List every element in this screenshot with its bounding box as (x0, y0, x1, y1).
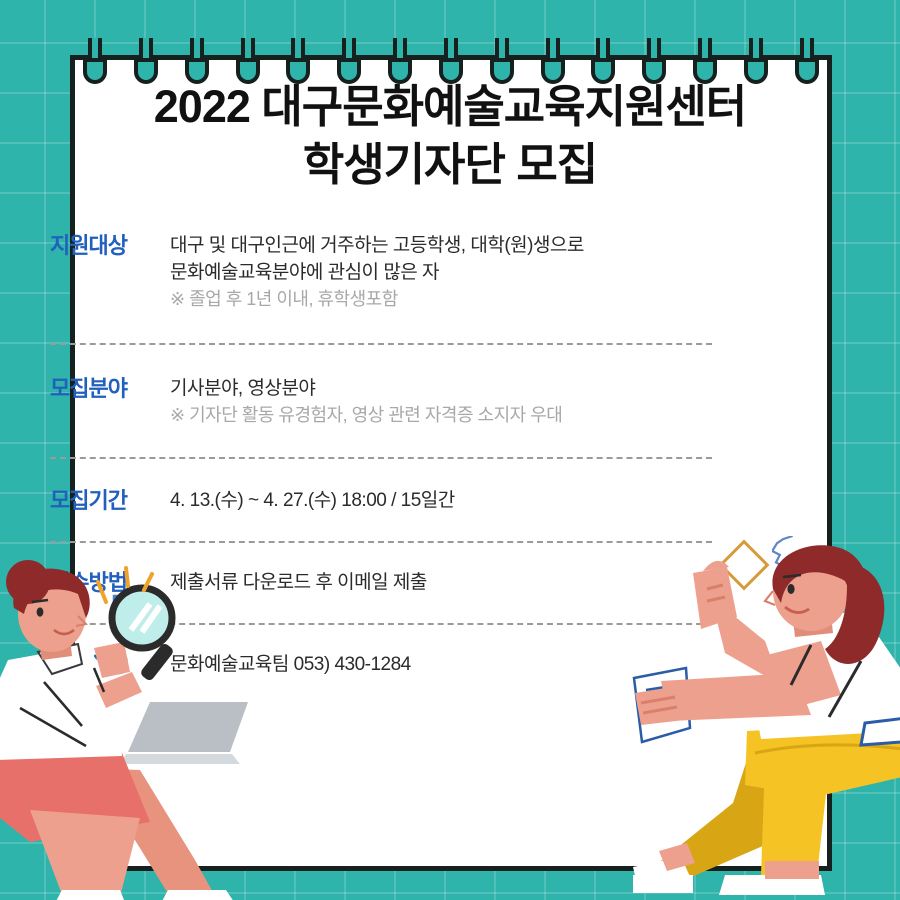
spiral-ring (186, 38, 208, 86)
spiral-ring-bulb (388, 58, 412, 84)
row-spacer (0, 345, 762, 375)
info-row-label: 모집기간 (50, 487, 158, 515)
spiral-ring-bulb (490, 58, 514, 84)
spiral-ring (491, 38, 513, 86)
row-spacer (0, 515, 762, 541)
spiral-ring-bulb (134, 58, 158, 84)
info-row-note: ※ 기자단 활동 유경험자, 영상 관련 자격증 소지자 우대 (170, 402, 762, 429)
row-spacer (0, 429, 762, 457)
info-row-note: ※ 졸업 후 1년 이내, 휴학생포함 (170, 286, 762, 313)
spiral-ring (745, 38, 767, 86)
spiral-ring (643, 38, 665, 86)
spiral-ring-bulb (185, 58, 209, 84)
spiral-ring-bulb (693, 58, 717, 84)
spiral-ring-bulb (286, 58, 310, 84)
spiral-ring-bulb (591, 58, 615, 84)
info-row-label: 지원대상 (50, 232, 158, 260)
page-title: 2022 대구문화예술교육지원센터 학생기자단 모집 (0, 78, 900, 194)
poster-canvas: 2022 대구문화예술교육지원센터 학생기자단 모집 지원대상대구 및 대구인근… (0, 0, 900, 900)
row-spacer (0, 313, 762, 343)
spiral-ring-bulb (642, 58, 666, 84)
spiral-ring-bulb (83, 58, 107, 84)
spiral-ring-bulb (795, 58, 819, 84)
title-line-2: 학생기자단 모집 (0, 136, 900, 194)
spiral-binding (70, 38, 832, 88)
spiral-ring-bulb (744, 58, 768, 84)
spiral-ring (237, 38, 259, 86)
info-row: 모집분야기사분야, 영상분야※ 기자단 활동 유경험자, 영상 관련 자격증 소… (0, 375, 762, 429)
spiral-ring (389, 38, 411, 86)
info-row-line: 문화예술교육분야에 관심이 많은 자 (170, 259, 762, 286)
spiral-ring (592, 38, 614, 86)
spiral-ring (287, 38, 309, 86)
info-row-line: 기사분야, 영상분야 (170, 375, 762, 402)
spiral-ring (542, 38, 564, 86)
info-row-body: 4. 13.(수) ~ 4. 27.(수) 18:00 / 15일간 (158, 487, 762, 514)
info-row-line: 대구 및 대구인근에 거주하는 고등학생, 대학(원)생으로 (170, 232, 762, 259)
info-row: 지원대상대구 및 대구인근에 거주하는 고등학생, 대학(원)생으로문화예술교육… (0, 232, 762, 313)
spiral-ring (338, 38, 360, 86)
spiral-ring-bulb (236, 58, 260, 84)
info-row-label: 모집분야 (50, 375, 158, 403)
info-row-body: 대구 및 대구인근에 거주하는 고등학생, 대학(원)생으로문화예술교육분야에 … (158, 232, 762, 313)
spiral-ring (694, 38, 716, 86)
info-row-line: 4. 13.(수) ~ 4. 27.(수) 18:00 / 15일간 (170, 487, 762, 514)
info-row-body: 기사분야, 영상분야※ 기자단 활동 유경험자, 영상 관련 자격증 소지자 우… (158, 375, 762, 429)
spiral-ring (135, 38, 157, 86)
spiral-ring (796, 38, 818, 86)
spiral-ring (84, 38, 106, 86)
row-spacer (0, 459, 762, 487)
left-character-illustration (0, 560, 240, 900)
info-row: 모집기간4. 13.(수) ~ 4. 27.(수) 18:00 / 15일간 (0, 487, 762, 515)
right-character-illustration (615, 545, 900, 900)
spiral-ring (440, 38, 462, 86)
title-line-1: 2022 대구문화예술교육지원센터 (154, 81, 746, 132)
spiral-ring-bulb (439, 58, 463, 84)
spiral-ring-bulb (541, 58, 565, 84)
spiral-ring-bulb (337, 58, 361, 84)
